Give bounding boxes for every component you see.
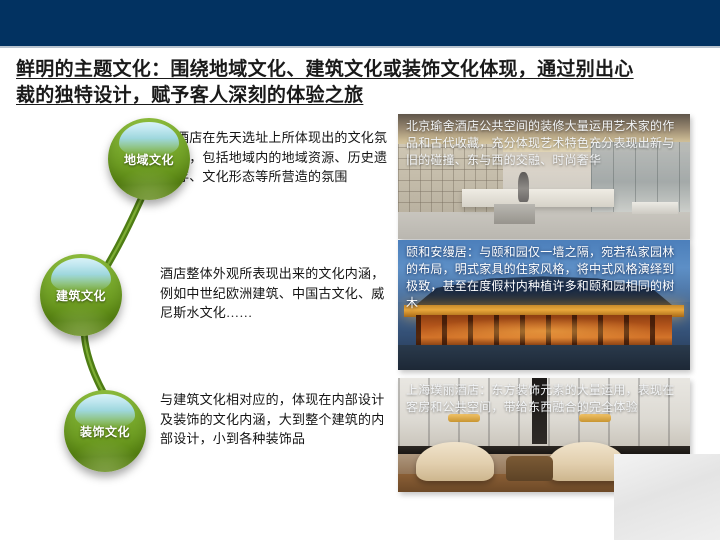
node-decorative-culture-label: 装饰文化 [64,423,146,440]
banner-divider [0,46,720,48]
corner-shadow [614,454,720,540]
description-regional-culture: 酒店在先天选址上所体现出的文化氛围，包括地域内的地域资源、历史遗存、文化形态等所… [176,128,388,187]
node-architectural-culture[interactable]: 建筑文化 [40,254,122,336]
description-decorative-culture: 与建筑文化相对应的，体现在内部设计及装饰的文化内涵，大到整个建筑的内部设计，小到… [160,390,388,449]
description-architectural-culture: 酒店整体外观所表现出来的文化内涵，例如中世纪欧洲建筑、中国古文化、威尼斯水文化…… [160,264,388,323]
photo-aman-summer-palace-courtyard: 颐和安缦居：与颐和园仅一墙之隔，宛若私家园林的布局，明式家具的住家风格，将中式风… [398,240,690,370]
top-banner [0,0,720,46]
photo-beijing-opposite-house-lobby: 北京瑜舍酒店公共空间的装修大量运用艺术家的作品和古代收藏，充分体现艺术特色充分表… [398,114,690,239]
page-title-line-2: 裁的独特设计，赋予客人深刻的体验之旅 [16,83,371,109]
node-regional-culture[interactable]: 地域文化 [108,118,190,200]
photo-caption-0: 北京瑜舍酒店公共空间的装修大量运用艺术家的作品和古代收藏，充分体现艺术特色充分表… [406,118,684,169]
page-title: 鲜明的主题文化：围绕地域文化、建筑文化或装饰文化体现，通过别出心 裁的独特设计，… [16,57,704,109]
photo-caption-1: 颐和安缦居：与颐和园仅一墙之隔，宛若私家园林的布局，明式家具的住家风格，将中式风… [406,244,684,312]
page-title-line-1: 鲜明的主题文化：围绕地域文化、建筑文化或装饰文化体现，通过别出心 [16,57,704,83]
node-architectural-culture-label: 建筑文化 [40,287,122,304]
node-regional-culture-label: 地域文化 [108,151,190,168]
photo-caption-2: 上海璞丽酒店：东方装饰元素的大量运用，表现在客房和公共空间，带给东西融合的完全体… [406,382,684,416]
slide-canvas: 鲜明的主题文化：围绕地域文化、建筑文化或装饰文化体现，通过别出心 裁的独特设计，… [0,0,720,540]
node-decorative-culture[interactable]: 装饰文化 [64,390,146,472]
